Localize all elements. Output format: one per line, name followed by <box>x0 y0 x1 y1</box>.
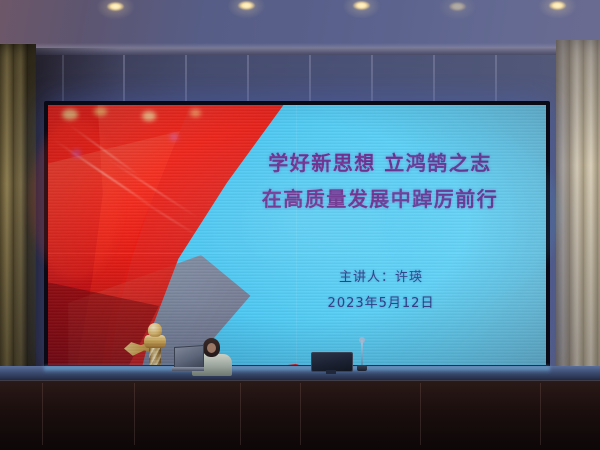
curtain-left <box>0 44 36 394</box>
bokeh-light <box>170 133 178 141</box>
bokeh-light <box>190 109 201 117</box>
led-panel-seam <box>48 253 546 254</box>
downlight-3 <box>353 1 370 10</box>
conference-hall-photo: 学好新思想 立鸿鹄之志 在高质量发展中踔厉前行 主讲人：许瑛 2023年5月12… <box>0 0 600 450</box>
slide-title-line1: 学好新思想 立鸿鹄之志 <box>230 145 530 181</box>
microphone-gooseneck <box>361 340 363 366</box>
desk-panel-seam <box>134 383 135 445</box>
microphone <box>357 340 367 372</box>
huabiao-finial <box>148 323 162 337</box>
slide-metadata: 主讲人：许瑛 2023年5月12日 <box>256 265 506 317</box>
desk-panel-seam <box>420 383 421 445</box>
bokeh-light <box>94 107 107 116</box>
ceiling <box>0 0 600 52</box>
desk-panel-seam <box>540 383 541 445</box>
monitor-stand <box>326 370 336 374</box>
downlight-1 <box>107 2 124 11</box>
curtain-right <box>556 40 600 398</box>
laptop-base <box>172 367 204 371</box>
downlight-4 <box>449 2 466 11</box>
bokeh-light <box>142 111 156 121</box>
downlight-2 <box>238 1 255 10</box>
desk-screen-reflection <box>44 366 550 373</box>
microphone-capsule <box>359 337 365 343</box>
microphone-base <box>357 365 367 371</box>
desk-panel-seam <box>300 383 301 445</box>
bokeh-light <box>62 109 78 120</box>
bokeh-light <box>72 149 81 158</box>
desk-monitor <box>311 352 351 374</box>
desk-panel-seam <box>240 383 241 445</box>
led-panel-seam <box>296 105 297 365</box>
laptop <box>172 346 204 372</box>
slide-date: 2023年5月12日 <box>256 291 506 317</box>
desk-panel-seam <box>42 383 43 445</box>
monitor-screen <box>311 352 353 372</box>
slide-title: 学好新思想 立鸿鹄之志 在高质量发展中踔厉前行 <box>230 145 530 217</box>
presenter-face <box>207 343 216 353</box>
led-video-wall[interactable]: 学好新思想 立鸿鹄之志 在高质量发展中踔厉前行 主讲人：许瑛 2023年5月12… <box>48 105 546 365</box>
slide-title-line2: 在高质量发展中踔厉前行 <box>230 181 530 217</box>
slide-speaker: 主讲人：许瑛 <box>256 265 506 291</box>
downlight-5 <box>549 1 566 10</box>
